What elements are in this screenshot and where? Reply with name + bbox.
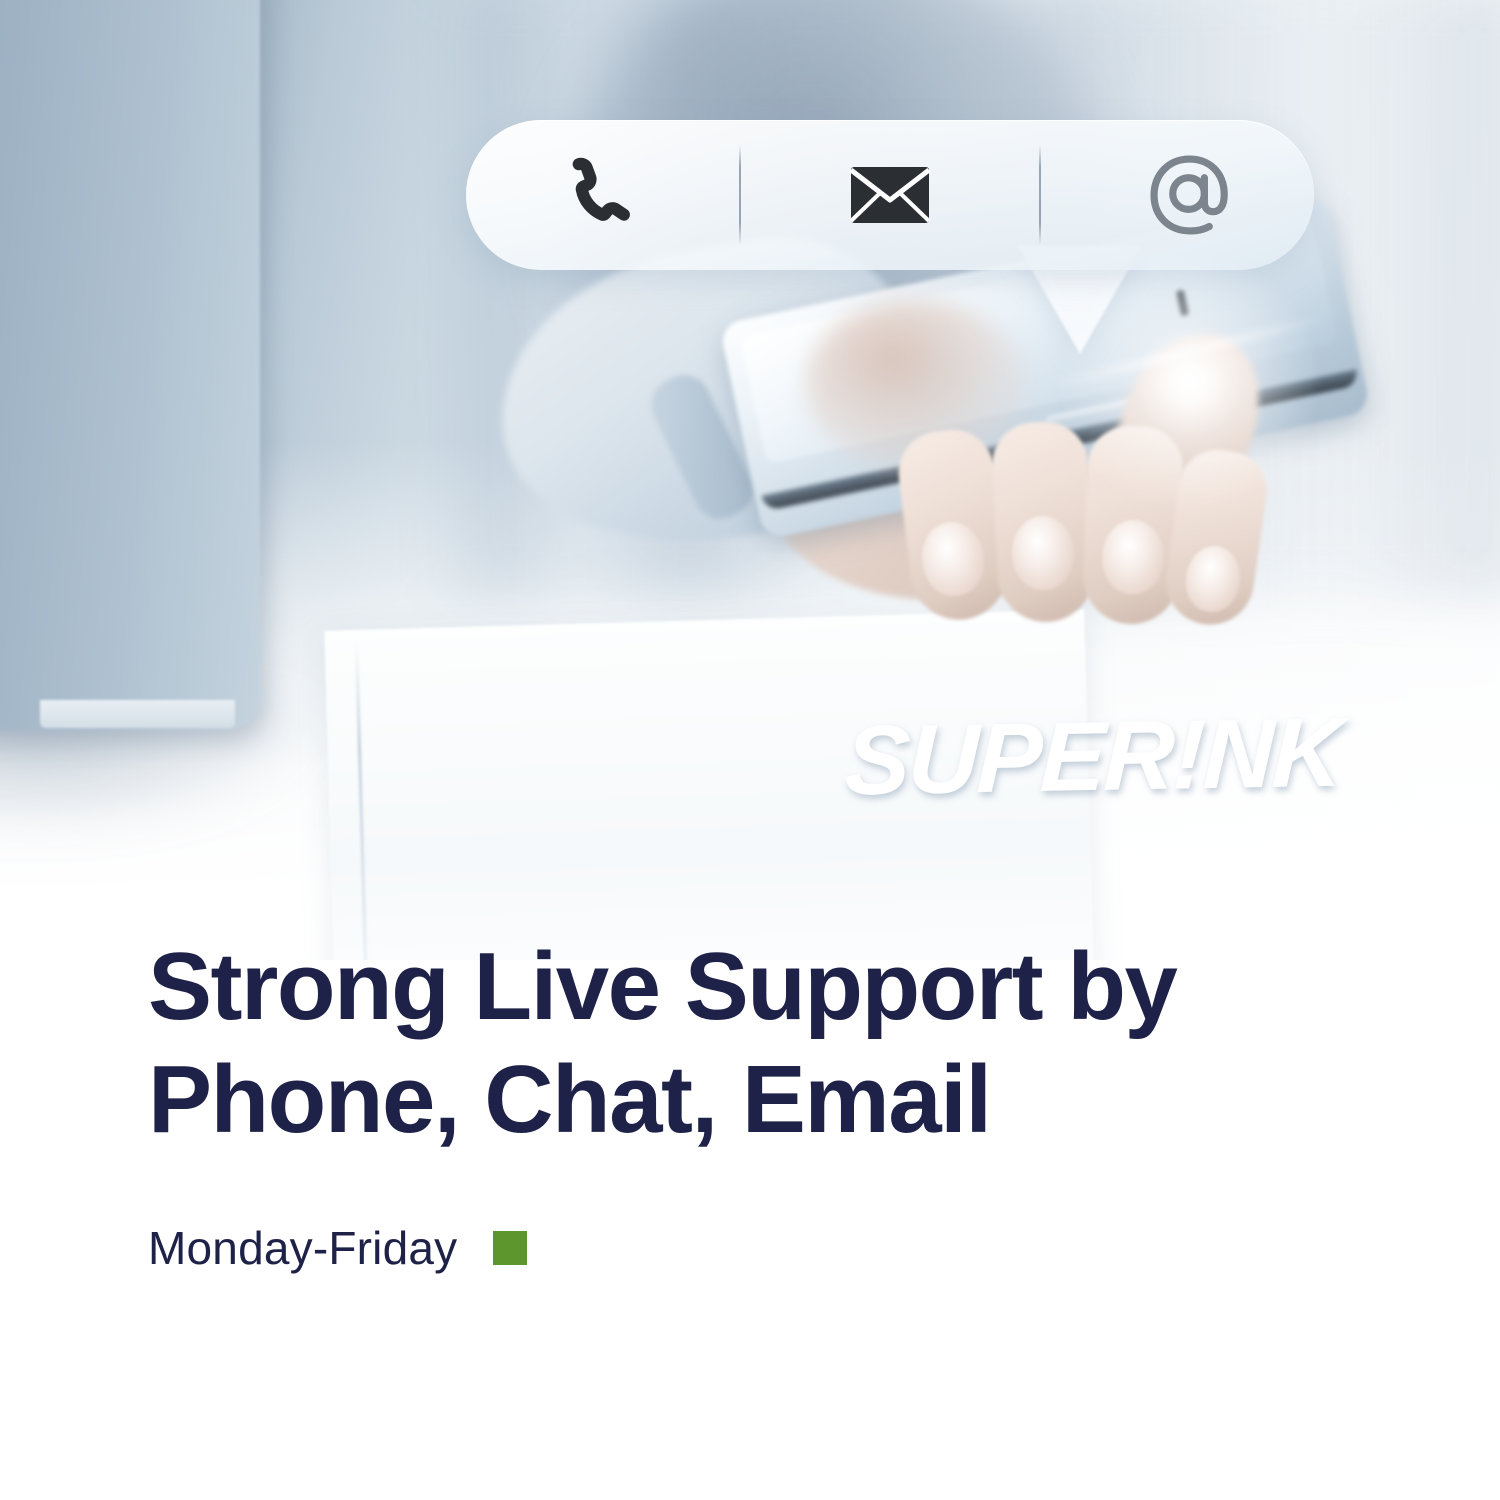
subtitle: Monday-Friday: [148, 1221, 457, 1275]
accent-square: [493, 1231, 527, 1265]
at-sign-icon: [1144, 149, 1236, 241]
contact-item-phone[interactable]: [490, 120, 690, 270]
superink-watermark: SUPER!NK: [843, 696, 1343, 818]
contact-item-email[interactable]: [790, 120, 990, 270]
divider: [1039, 145, 1041, 245]
laptop-foot: [40, 700, 235, 728]
headline: Strong Live Support by Phone, Chat, Emai…: [148, 930, 1268, 1157]
support-banner: SUPER!NK Strong Live Support by Phone, C…: [0, 0, 1500, 1500]
envelope-icon: [848, 164, 932, 226]
subtitle-row: Monday-Friday: [148, 1221, 1348, 1275]
copy-block: Strong Live Support by Phone, Chat, Emai…: [148, 930, 1348, 1275]
hero-photo: SUPER!NK: [0, 0, 1500, 960]
laptop-lid: [0, 0, 260, 730]
divider: [739, 145, 741, 245]
phone-icon: [547, 152, 633, 238]
contact-item-at[interactable]: [1090, 120, 1290, 270]
contact-icon-bar: [466, 120, 1314, 270]
